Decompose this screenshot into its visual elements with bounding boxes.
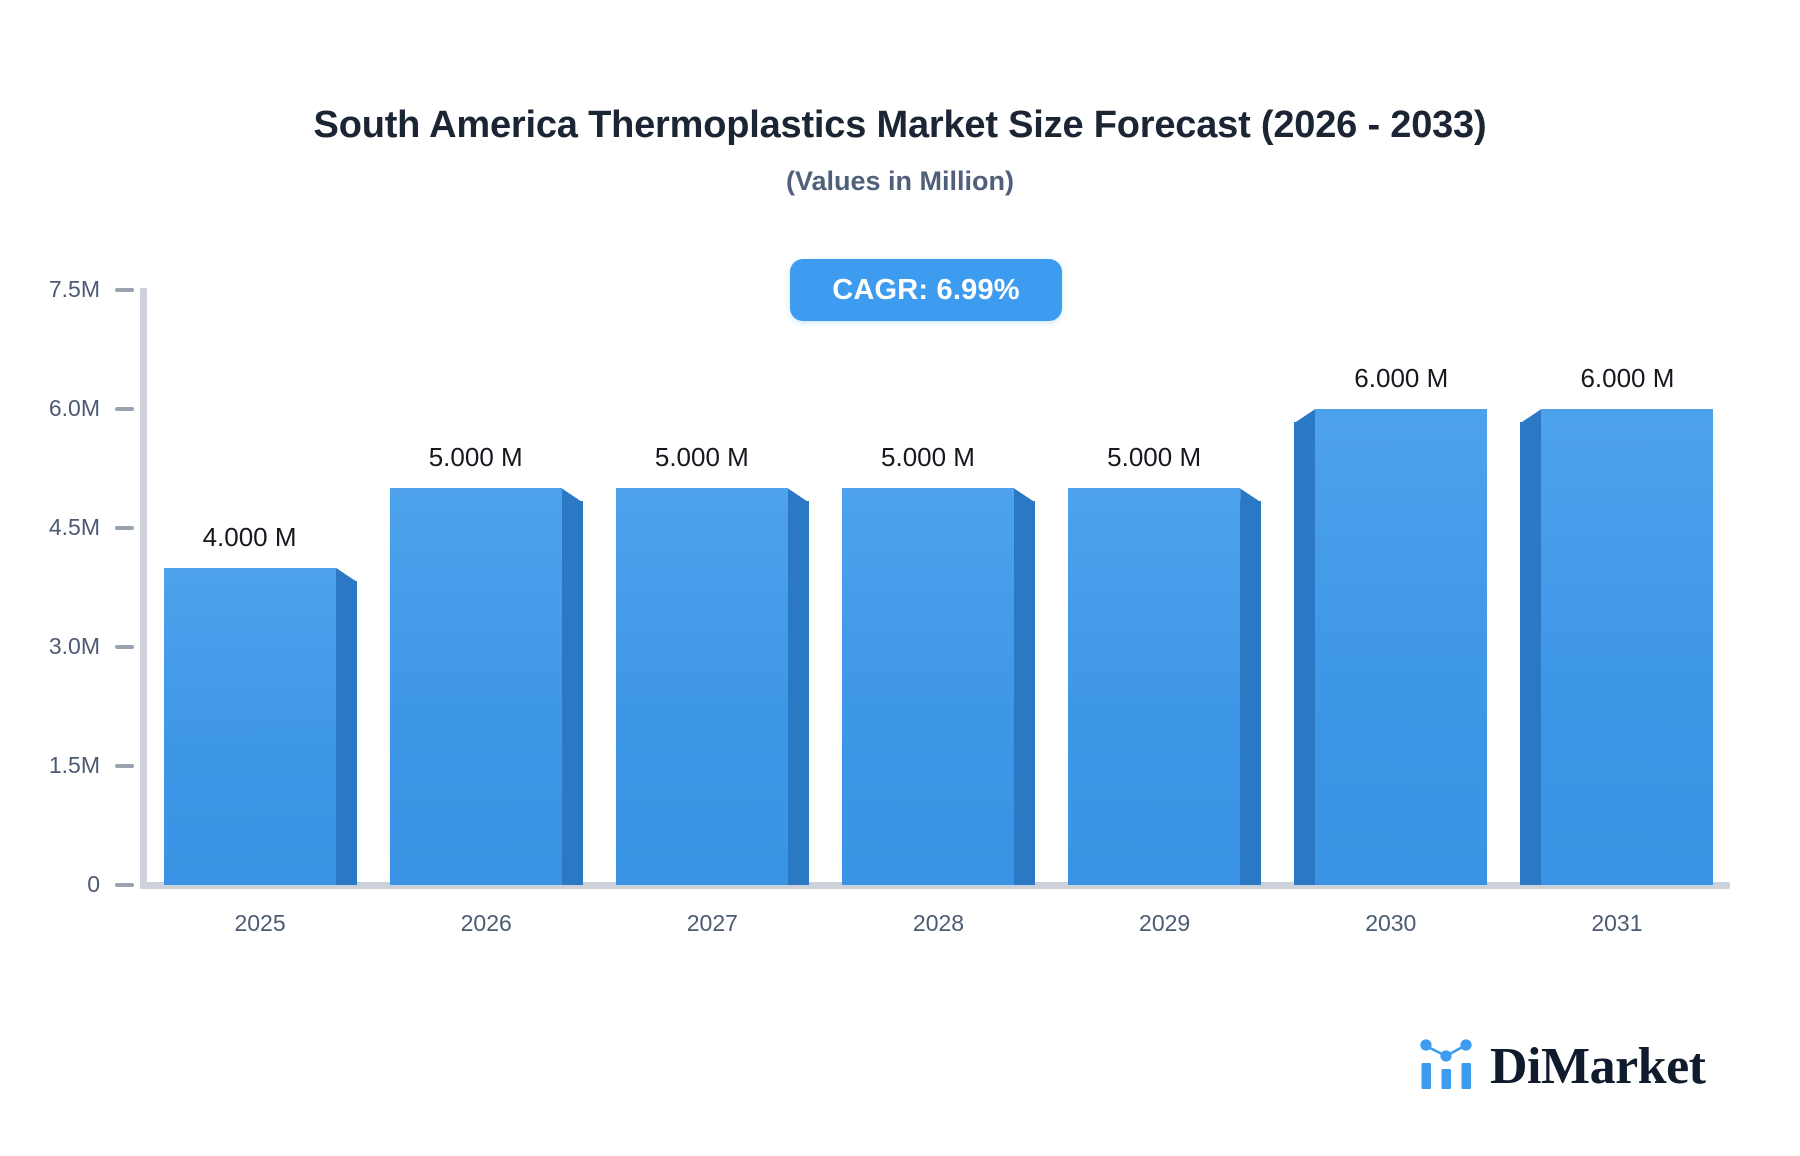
brand-logo: DiMarket [1418,1036,1705,1097]
bar-top-bevel [1520,409,1541,423]
bar-side-face [1520,422,1541,885]
plot-area: 01.5M3.0M4.5M6.0M7.5M 4.000 M5.000 M5.00… [0,0,1800,1156]
x-axis-tick-label: 2026 [396,912,576,935]
bar-chart-logo-icon [1418,1036,1476,1097]
x-axis-tick-label: 2031 [1527,912,1707,935]
x-axis-tick-label: 2029 [1075,912,1255,935]
x-axis-tick-label: 2028 [849,912,1029,935]
bar-front-face [1541,409,1713,885]
bar-value-label: 6.000 M [1481,365,1773,391]
chart-card: South America Thermoplastics Market Size… [0,0,1800,1156]
x-axis-tick-label: 2030 [1301,912,1481,935]
x-axis-tick-label: 2025 [170,912,350,935]
x-axis-tick-label: 2027 [622,912,802,935]
logo-text: DiMarket [1490,1041,1705,1093]
bar-2031[interactable]: 6.000 M [0,0,1800,1156]
